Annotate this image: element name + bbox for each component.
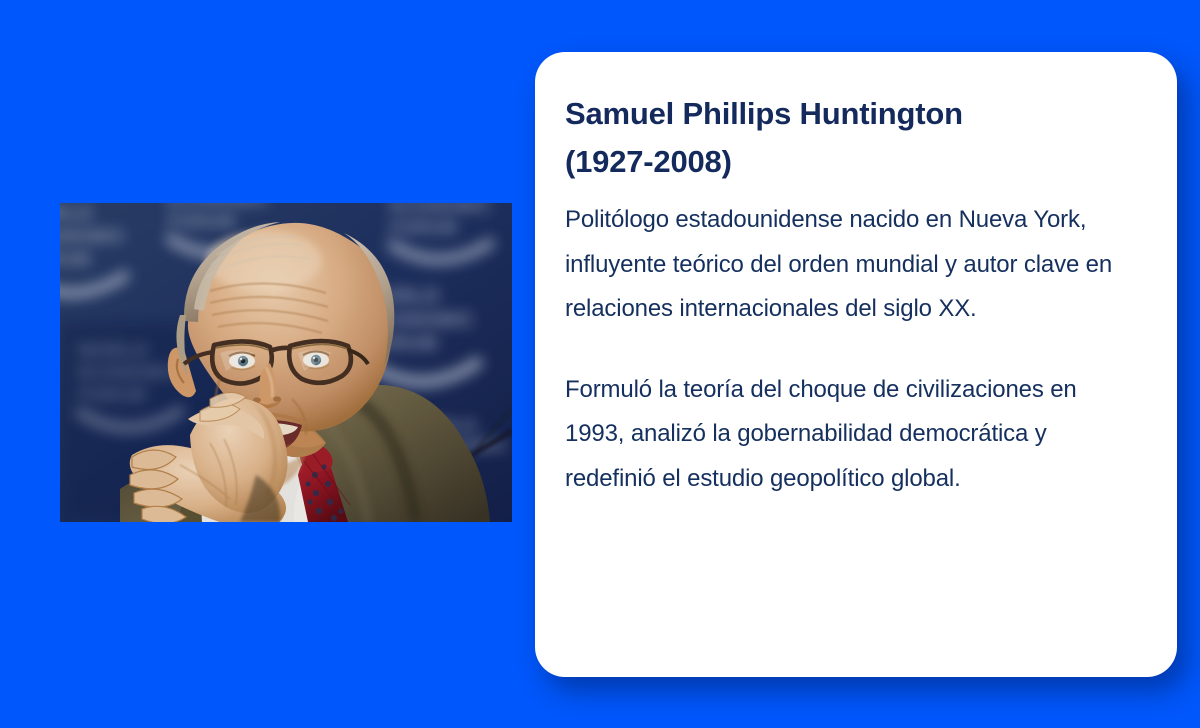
bio-paragraph-2: Formuló la teoría del choque de civiliza… [565,368,1139,502]
bio-paragraph-1: Politólogo estadounidense nacido en Nuev… [565,198,1139,332]
slide-canvas: WORLD ECONOMIC FORUM WORLD ECONOMIC FORU… [0,0,1200,728]
bio-text: Politólogo estadounidense nacido en Nuev… [565,186,1139,501]
page-title: Samuel Phillips Huntington (1927-2008) [565,90,1139,186]
bio-card: Samuel Phillips Huntington (1927-2008) P… [535,52,1177,677]
portrait-photo: WORLD ECONOMIC FORUM WORLD ECONOMIC FORU… [60,203,512,522]
